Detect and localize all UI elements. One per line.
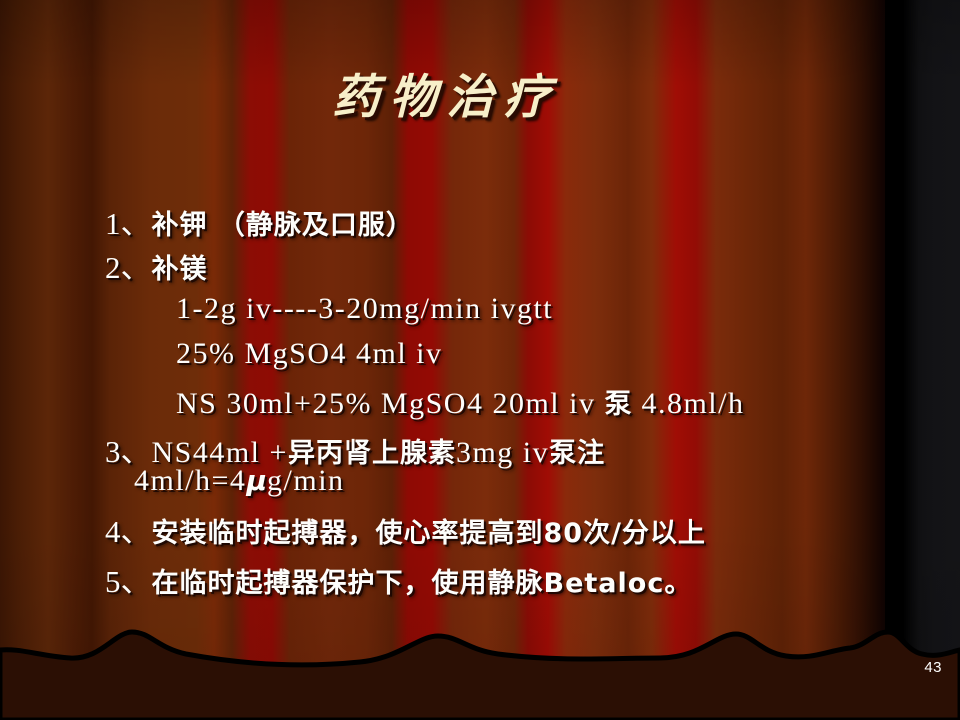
bullet-text-3c: 3mg iv bbox=[456, 436, 549, 469]
page-number: 43 bbox=[924, 659, 942, 676]
micro-symbol: μ bbox=[246, 464, 267, 497]
dosage-text-3a: NS 30ml+25% MgSO4 20ml iv bbox=[176, 387, 604, 420]
bullet-number-2: 2、 bbox=[105, 250, 152, 285]
bullet-number-5: 5、 bbox=[105, 564, 152, 599]
bullet-line-4: 4、安装临时起搏器，使心率提高到80次/分以上 bbox=[105, 506, 706, 551]
bottom-wave-decoration bbox=[0, 610, 960, 720]
bullet-line-5: 5、在临时起搏器保护下，使用静脉Betaloc。 bbox=[105, 556, 692, 601]
bullet-text-4a: 安装临时起搏器，使心率提高到 bbox=[152, 518, 544, 549]
dosage-text-3c: 4.8ml/h bbox=[632, 387, 744, 420]
bullet-number-1: 1、 bbox=[105, 206, 152, 241]
bullet-text-1: 补钾 （静脉及口服） bbox=[152, 210, 414, 241]
dosage-text-3b: 泵 bbox=[604, 389, 632, 420]
dosage-line-4: 4ml/h=4μg/min bbox=[134, 464, 345, 498]
slide-body: 1、补钾 （静脉及口服） 2、补镁 1-2g iv----3-20mg/min … bbox=[0, 196, 893, 616]
bullet-text-4b: 80次/分以上 bbox=[544, 518, 706, 549]
slide-title: 药物治疗 bbox=[0, 58, 893, 127]
bullet-line-2: 2、补镁 bbox=[105, 242, 208, 287]
dosage-text-4c: g/min bbox=[267, 464, 345, 497]
dosage-text-4a: 4ml/h=4 bbox=[134, 464, 246, 497]
bullet-text-3d: 泵注 bbox=[549, 438, 605, 469]
dosage-text-1: 1-2g iv----3-20mg/min ivgtt bbox=[176, 292, 553, 325]
dosage-line-2: 25% MgSO4 4ml iv bbox=[176, 337, 443, 371]
bullet-text-5b: Betaloc。 bbox=[544, 568, 693, 599]
bullet-text-2: 补镁 bbox=[152, 254, 208, 285]
dosage-line-1: 1-2g iv----3-20mg/min ivgtt bbox=[176, 292, 553, 326]
bullet-number-4: 4、 bbox=[105, 514, 152, 549]
slide-canvas: 药物治疗 1、补钾 （静脉及口服） 2、补镁 1-2g iv----3-20mg… bbox=[0, 0, 960, 720]
dosage-text-2: 25% MgSO4 4ml iv bbox=[176, 337, 443, 370]
bullet-text-5a: 在临时起搏器保护下，使用静脉 bbox=[152, 568, 544, 599]
dosage-line-3: NS 30ml+25% MgSO4 20ml iv 泵 4.8ml/h bbox=[176, 382, 744, 421]
bullet-line-1: 1、补钾 （静脉及口服） bbox=[105, 198, 414, 243]
